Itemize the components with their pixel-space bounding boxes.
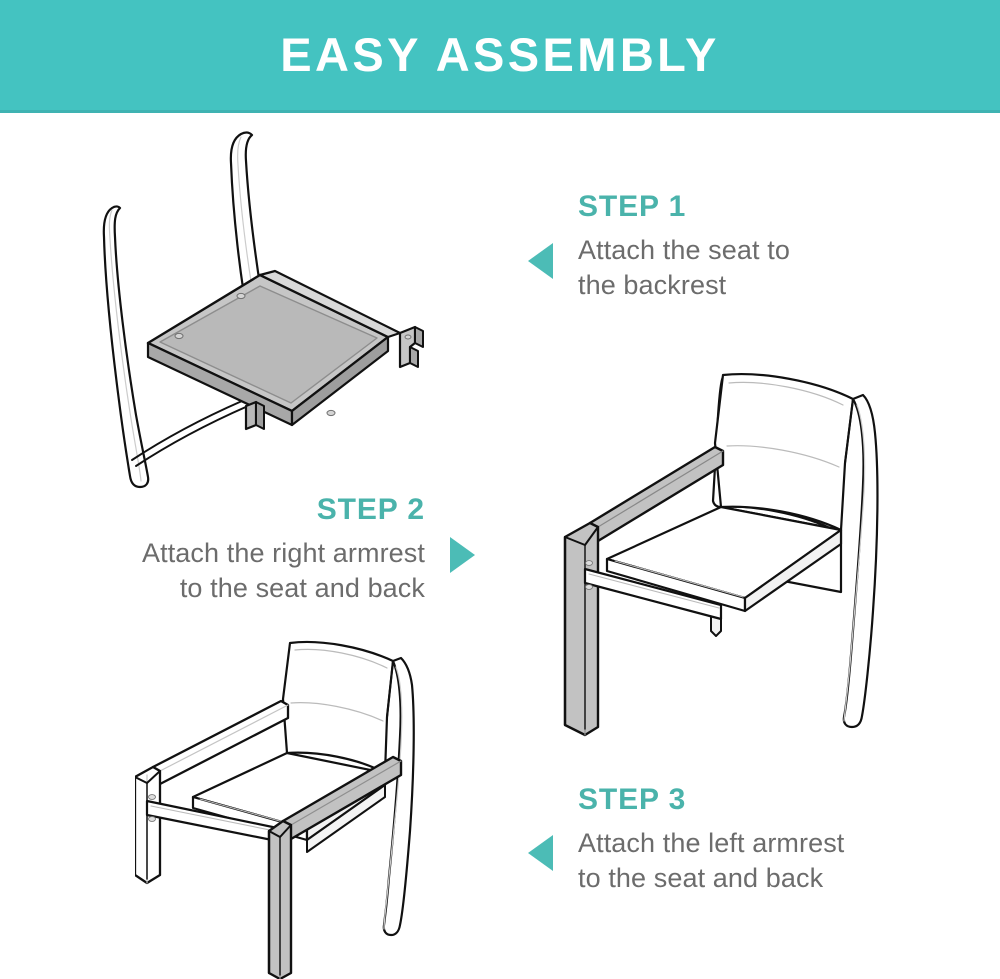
step-3-description: Attach the left armrest to the seat and …: [578, 826, 948, 895]
chair-with-right-armrest-illustration: [545, 355, 935, 740]
arrow-right-icon: [450, 537, 475, 573]
step-3-description-line-2: to the seat and back: [578, 861, 948, 896]
step-1-description: Attach the seat to the backrest: [578, 233, 938, 302]
assembly-instructions-page: EASY ASSEMBLY: [0, 0, 1000, 979]
step-2-text-block: STEP 2 Attach the right armrest to the s…: [40, 495, 425, 605]
page-title: EASY ASSEMBLY: [280, 31, 719, 78]
step-3-description-line-1: Attach the left armrest: [578, 826, 948, 861]
step-2-heading: STEP 2: [40, 495, 425, 525]
step-1-description-line-1: Attach the seat to: [578, 233, 938, 268]
step-1-description-line-2: the backrest: [578, 268, 938, 303]
arrow-left-icon: [528, 243, 553, 279]
arrow-left-icon: [528, 835, 553, 871]
step-2-description-line-2: to the seat and back: [40, 571, 425, 606]
step-1-heading: STEP 1: [578, 192, 938, 222]
step-3-heading: STEP 3: [578, 785, 948, 815]
step-2-description-line-1: Attach the right armrest: [40, 536, 425, 571]
step-2-description: Attach the right armrest to the seat and…: [40, 536, 425, 605]
header-banner: EASY ASSEMBLY: [0, 0, 1000, 110]
step-3-text-block: STEP 3 Attach the left armrest to the se…: [578, 785, 948, 895]
chair-with-left-armrest-illustration: [135, 625, 465, 979]
chair-seat-and-backrest-inverted-illustration: [70, 125, 450, 495]
step-1-text-block: STEP 1 Attach the seat to the backrest: [578, 192, 938, 302]
banner-underline-divider: [0, 110, 1000, 113]
